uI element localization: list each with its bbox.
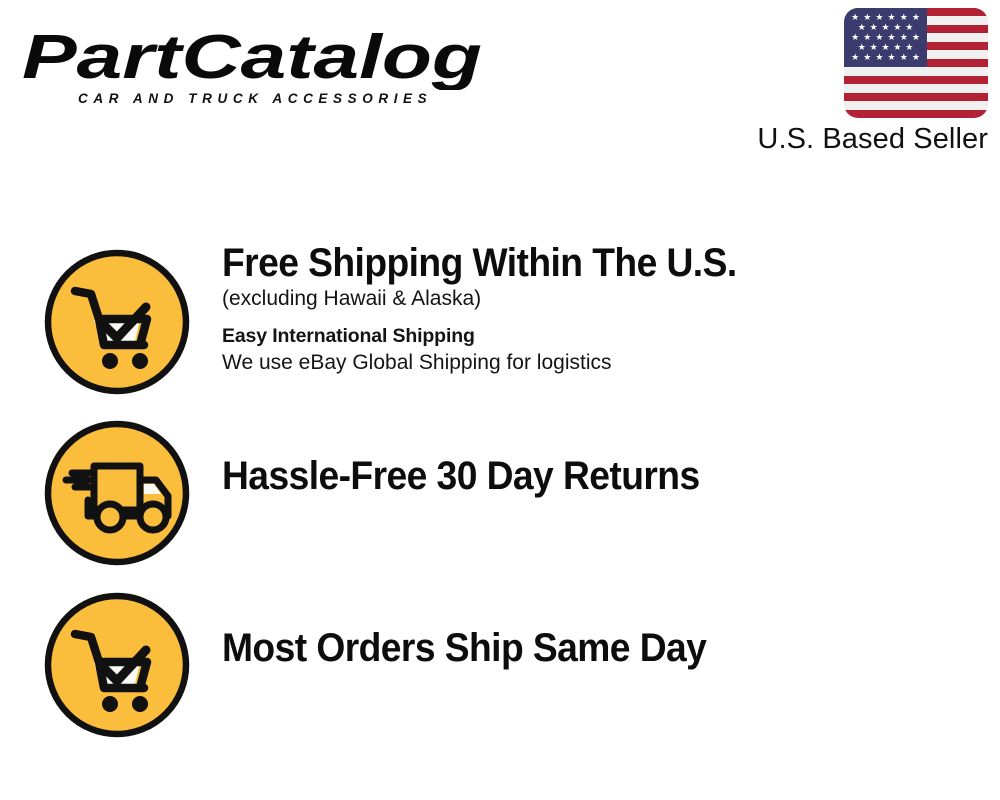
promo-banner: PartCatalog CAR AND TRUCK ACCESSORIES: [0, 0, 1000, 800]
feature-row: Free Shipping Within The U.S. (excluding…: [0, 236, 1000, 408]
us-based-seller-badge: ★★★★★★ ★★★★★ ★★★★★★ ★★★★★ ★★★★★★ U.S. Ba…: [718, 8, 988, 156]
svg-text:PartCatalog: PartCatalog: [22, 28, 482, 90]
shopping-cart-check-icon: [42, 247, 192, 397]
feature-headline: Hassle-Free 30 Day Returns: [222, 455, 929, 498]
feature-text-block: Most Orders Ship Same Day: [222, 627, 982, 670]
feature-subline-bold: Easy International Shipping: [222, 324, 982, 348]
feature-subline: (excluding Hawaii & Alaska): [222, 286, 982, 312]
shopping-cart-check-icon: [42, 590, 192, 740]
feature-text-block: Free Shipping Within The U.S. (excluding…: [222, 242, 982, 376]
feature-text-block: Hassle-Free 30 Day Returns: [222, 455, 982, 498]
feature-row: Hassle-Free 30 Day Returns: [0, 407, 1000, 579]
feature-headline: Free Shipping Within The U.S.: [222, 242, 929, 285]
feature-row: Most Orders Ship Same Day: [0, 579, 1000, 751]
brand-logo[interactable]: PartCatalog CAR AND TRUCK ACCESSORIES: [22, 28, 492, 106]
delivery-truck-icon: [42, 418, 192, 568]
feature-subline: We use eBay Global Shipping for logistic…: [222, 350, 982, 376]
brand-tagline: CAR AND TRUCK ACCESSORIES: [78, 92, 492, 106]
us-flag-icon: ★★★★★★ ★★★★★ ★★★★★★ ★★★★★ ★★★★★★: [844, 8, 988, 118]
us-based-seller-label: U.S. Based Seller: [718, 124, 988, 156]
partcatalog-wordmark-icon: PartCatalog: [22, 28, 484, 90]
feature-headline: Most Orders Ship Same Day: [222, 627, 929, 670]
